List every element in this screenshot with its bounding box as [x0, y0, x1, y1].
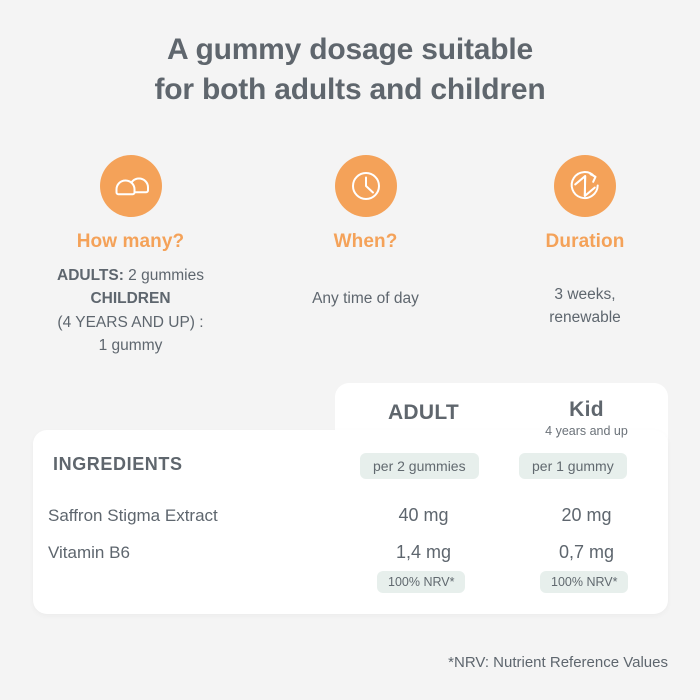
nrv-badge-adult: 100% NRV*: [377, 571, 465, 593]
ingredient-name: Saffron Stigma Extract: [48, 506, 218, 526]
dosage-line-children: CHILDREN: [57, 287, 204, 310]
unit-badge-adult: per 2 gummies: [360, 453, 479, 479]
info-column-body: ADULTS: 2 gummies CHILDREN (4 YEARS AND …: [57, 264, 204, 357]
info-column-body: Any time of day: [312, 287, 419, 310]
column-header-adult: ADULT: [342, 401, 505, 425]
clock-icon: [335, 155, 397, 217]
info-column-when: When? Any time of day: [261, 155, 470, 357]
nrv-badge-kid: 100% NRV*: [540, 571, 628, 593]
info-column-how-many: How many? ADULTS: 2 gummies CHILDREN (4 …: [0, 155, 261, 357]
ingredient-value-kid: 20 mg: [505, 505, 668, 526]
ingredient-value-kid: 0,7 mg: [505, 542, 668, 563]
dosage-line-adults: ADULTS: 2 gummies: [57, 264, 204, 287]
column-header-kid: Kid: [505, 398, 668, 422]
ingredients-label: INGREDIENTS: [53, 454, 183, 475]
when-line: Any time of day: [312, 287, 419, 310]
unit-badge-kid: per 1 gummy: [519, 453, 627, 479]
duration-line-2: renewable: [549, 306, 621, 329]
ingredient-value-adult: 40 mg: [342, 505, 505, 526]
gummies-icon: [100, 155, 162, 217]
info-column-heading: Duration: [546, 231, 625, 253]
dosage-line-kid-amount: 1 gummy: [57, 334, 204, 357]
ingredient-value-adult: 1,4 mg: [342, 542, 505, 563]
column-subheader-kid-age: 4 years and up: [505, 424, 668, 438]
info-columns: How many? ADULTS: 2 gummies CHILDREN (4 …: [0, 155, 700, 357]
info-column-heading: How many?: [77, 231, 185, 253]
duration-line-1: 3 weeks,: [549, 283, 621, 306]
footnote-nrv: *NRV: Nutrient Reference Values: [448, 654, 668, 671]
ingredient-name: Vitamin B6: [48, 543, 130, 563]
hourglass-refresh-icon: [554, 155, 616, 217]
page-title: A gummy dosage suitable for both adults …: [0, 30, 700, 109]
page-title-line-1: A gummy dosage suitable: [0, 30, 700, 70]
info-column-duration: Duration 3 weeks, renewable: [470, 155, 700, 357]
page-title-line-2: for both adults and children: [0, 70, 700, 110]
info-column-heading: When?: [334, 231, 398, 253]
info-column-body: 3 weeks, renewable: [549, 283, 621, 330]
dosage-line-age: (4 YEARS AND UP) :: [57, 311, 204, 334]
